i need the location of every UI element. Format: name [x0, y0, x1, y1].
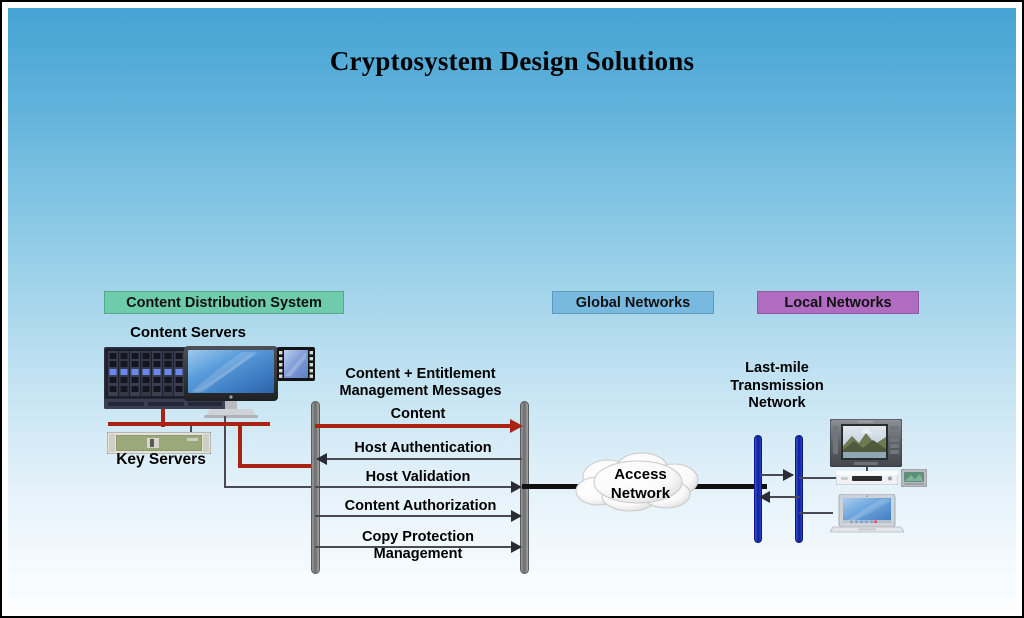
message-arrowhead-host-validation	[511, 481, 522, 493]
gray-cable-to-rod	[224, 486, 315, 488]
laptop-computer-icon	[830, 494, 904, 534]
content-entitlement-line-1: Content + Entitlement	[328, 366, 513, 383]
diagram-canvas: Cryptosystem Design Solutions Content Di…	[8, 8, 1016, 610]
diagram-frame: Cryptosystem Design Solutions Content Di…	[0, 0, 1024, 618]
content-entitlement-heading: Content + Entitlement Management Message…	[328, 366, 513, 400]
message-line-content	[315, 424, 513, 428]
page-title: Cryptosystem Design Solutions	[8, 46, 1016, 77]
media-film-icon	[277, 347, 315, 381]
access-network-line-2: Network	[593, 484, 688, 503]
message-arrowhead-host-authentication	[316, 453, 327, 465]
red-bus-left	[108, 422, 270, 426]
red-cable-down	[238, 422, 242, 466]
message-label-content: Content	[323, 406, 513, 423]
access-network-line-1: Access	[593, 465, 688, 484]
desktop-monitor-icon	[184, 346, 278, 418]
message-label-copy-protection: Copy Protection	[323, 529, 513, 546]
red-cable-to-rod	[238, 464, 315, 468]
link-to-set-top-box	[799, 477, 837, 479]
last-mile-line-1: Last-mile	[708, 360, 846, 378]
last-mile-network-label: Last-mile Transmission Network	[708, 360, 846, 413]
message-line-content-authorization	[315, 515, 513, 517]
set-top-box-icon	[836, 471, 898, 485]
remote-control-icon	[901, 469, 927, 487]
last-mile-line-2: Transmission	[708, 378, 846, 396]
link-to-laptop	[799, 512, 833, 514]
content-entitlement-line-2: Management Messages	[328, 383, 513, 400]
last-mile-arrowhead-downstream	[783, 469, 794, 481]
access-network-label: Access Network	[593, 465, 688, 503]
message-line-host-authentication	[326, 458, 522, 460]
key-servers-label: Key Servers	[96, 451, 226, 469]
section-label-local-networks: Local Networks	[757, 291, 919, 314]
message-label-content-authorization: Content Authorization	[323, 498, 518, 515]
message-arrowhead-content	[510, 419, 523, 433]
last-mile-rod-right	[795, 435, 803, 543]
television-display-icon	[830, 419, 902, 467]
section-label-content-distribution-system: Content Distribution System	[104, 291, 344, 314]
message-label-host-authentication: Host Authentication	[323, 440, 523, 457]
section-label-global-networks: Global Networks	[552, 291, 714, 314]
message-line-host-validation	[315, 486, 513, 488]
last-mile-rod-left	[754, 435, 762, 543]
last-mile-line-upstream	[768, 496, 800, 498]
message-label-copy-protection-line2: Management	[323, 546, 513, 563]
last-mile-arrowhead-upstream	[759, 491, 770, 503]
message-arrowhead-content-authorization	[511, 510, 522, 522]
content-servers-label: Content Servers	[104, 324, 272, 342]
message-label-host-validation: Host Validation	[323, 469, 513, 486]
last-mile-line-3: Network	[708, 395, 846, 413]
